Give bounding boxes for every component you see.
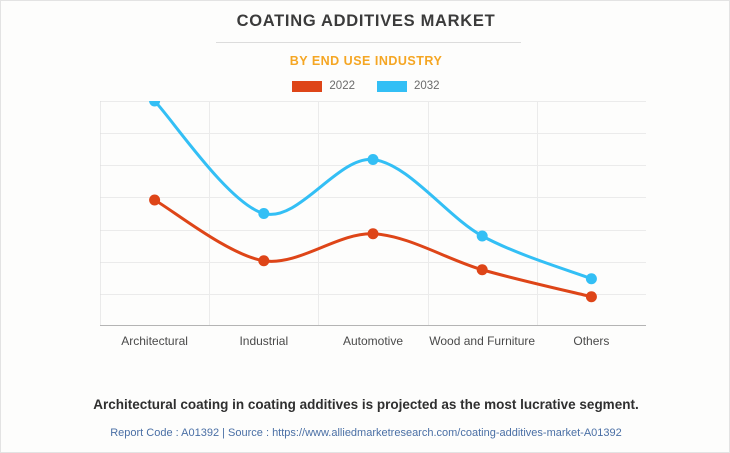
title-divider xyxy=(216,42,521,43)
x-axis: ArchitecturalIndustrialAutomotiveWood an… xyxy=(33,333,713,381)
data-point-2022-others[interactable] xyxy=(586,291,597,302)
legend-swatch-icon-2032 xyxy=(377,81,407,92)
legend-swatch-icon-2022 xyxy=(292,81,322,92)
data-point-2022-automotive[interactable] xyxy=(368,228,379,239)
source-link[interactable]: Source : https://www.alliedmarketresearc… xyxy=(228,427,622,439)
data-point-2032-wood-and-furniture[interactable] xyxy=(477,231,488,242)
x-tick-label-others: Others xyxy=(523,333,659,350)
data-point-2022-wood-and-furniture[interactable] xyxy=(477,264,488,275)
chart-card: COATING ADDITIVES MARKET BY END USE INDU… xyxy=(0,0,730,453)
source-separator: | xyxy=(222,427,225,439)
chart-subtitle: BY END USE INDUSTRY xyxy=(1,54,730,68)
series-markers xyxy=(149,101,597,302)
legend-item-2032[interactable]: 2032 xyxy=(377,80,440,92)
legend-label-2022: 2022 xyxy=(329,80,355,92)
data-point-2032-automotive[interactable] xyxy=(368,154,379,165)
chart-caption: Architectural coating in coating additiv… xyxy=(1,397,730,412)
chart-legend: 2022 2032 xyxy=(1,80,730,92)
legend-label-2032: 2032 xyxy=(414,80,440,92)
data-point-2032-industrial[interactable] xyxy=(258,208,269,219)
plot-area xyxy=(100,101,646,326)
line-chart-svg xyxy=(100,101,646,326)
series-line-2032 xyxy=(155,101,592,279)
data-point-2022-architectural[interactable] xyxy=(149,195,160,206)
page-title: COATING ADDITIVES MARKET xyxy=(1,12,730,31)
legend-item-2022[interactable]: 2022 xyxy=(292,80,355,92)
source-line: Report Code : A01392 | Source : https://… xyxy=(1,427,730,439)
series-line-2022 xyxy=(155,200,592,297)
report-code-label: Report Code : A01392 xyxy=(110,427,219,439)
data-point-2032-others[interactable] xyxy=(586,273,597,284)
data-point-2022-industrial[interactable] xyxy=(258,255,269,266)
series-lines xyxy=(155,101,592,297)
